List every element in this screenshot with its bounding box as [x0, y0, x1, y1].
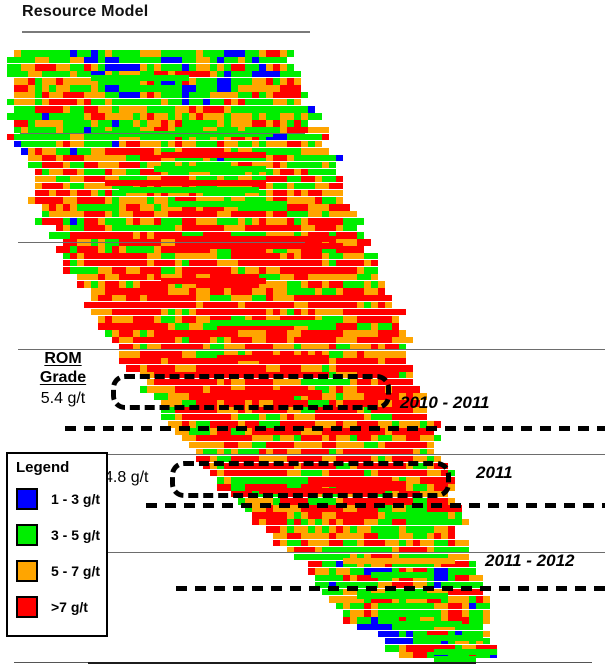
rom-label-line2: Grade	[22, 368, 104, 387]
bench-line-4	[102, 454, 605, 455]
legend-title: Legend	[16, 459, 69, 476]
legend-item-label: 1 - 3 g/t	[51, 491, 100, 507]
legend-item-label: 3 - 5 g/t	[51, 527, 100, 543]
legend-item-legend-1-3: 1 - 3 g/t	[16, 486, 100, 512]
legend-item-label: 5 - 7 g/t	[51, 563, 100, 579]
phase-2011-label: 2011	[476, 463, 513, 483]
legend-swatch-icon	[16, 560, 38, 582]
rom-grade-value-2011: 4.8 g/t	[104, 469, 148, 487]
phase-line-2	[146, 503, 605, 508]
rom-grade-value: 5.4 g/t	[22, 387, 104, 410]
bench-line-1	[20, 133, 305, 134]
phase-line-3	[176, 586, 605, 591]
legend-item-legend-5-7: 5 - 7 g/t	[16, 558, 100, 584]
legend: Legend 1 - 3 g/t3 - 5 g/t5 - 7 g/t>7 g/t	[6, 452, 108, 637]
legend-swatch-icon	[16, 596, 38, 618]
legend-swatch-icon	[16, 524, 38, 546]
bench-line-2	[18, 242, 305, 243]
legend-swatch-icon	[16, 488, 38, 510]
rom-grade-block: ROM Grade 5.4 g/t	[22, 349, 104, 410]
phase-2011-2012-label: 2011 - 2012	[485, 551, 574, 571]
legend-item-legend-gt7: >7 g/t	[16, 594, 88, 620]
rom-box-2011	[170, 461, 451, 498]
resource-model-figure: Resource Model 2010 - 201120112011 - 201…	[0, 0, 605, 671]
rom-box-2010-2011	[111, 374, 391, 410]
bottom-divider-dark	[88, 662, 476, 664]
legend-item-legend-3-5: 3 - 5 g/t	[16, 522, 100, 548]
phase-2010-2011-label: 2010 - 2011	[400, 393, 489, 413]
legend-item-label: >7 g/t	[51, 599, 88, 615]
rom-label-line1: ROM	[22, 349, 104, 368]
bench-line-3	[18, 349, 605, 350]
phase-line-1	[65, 426, 605, 431]
